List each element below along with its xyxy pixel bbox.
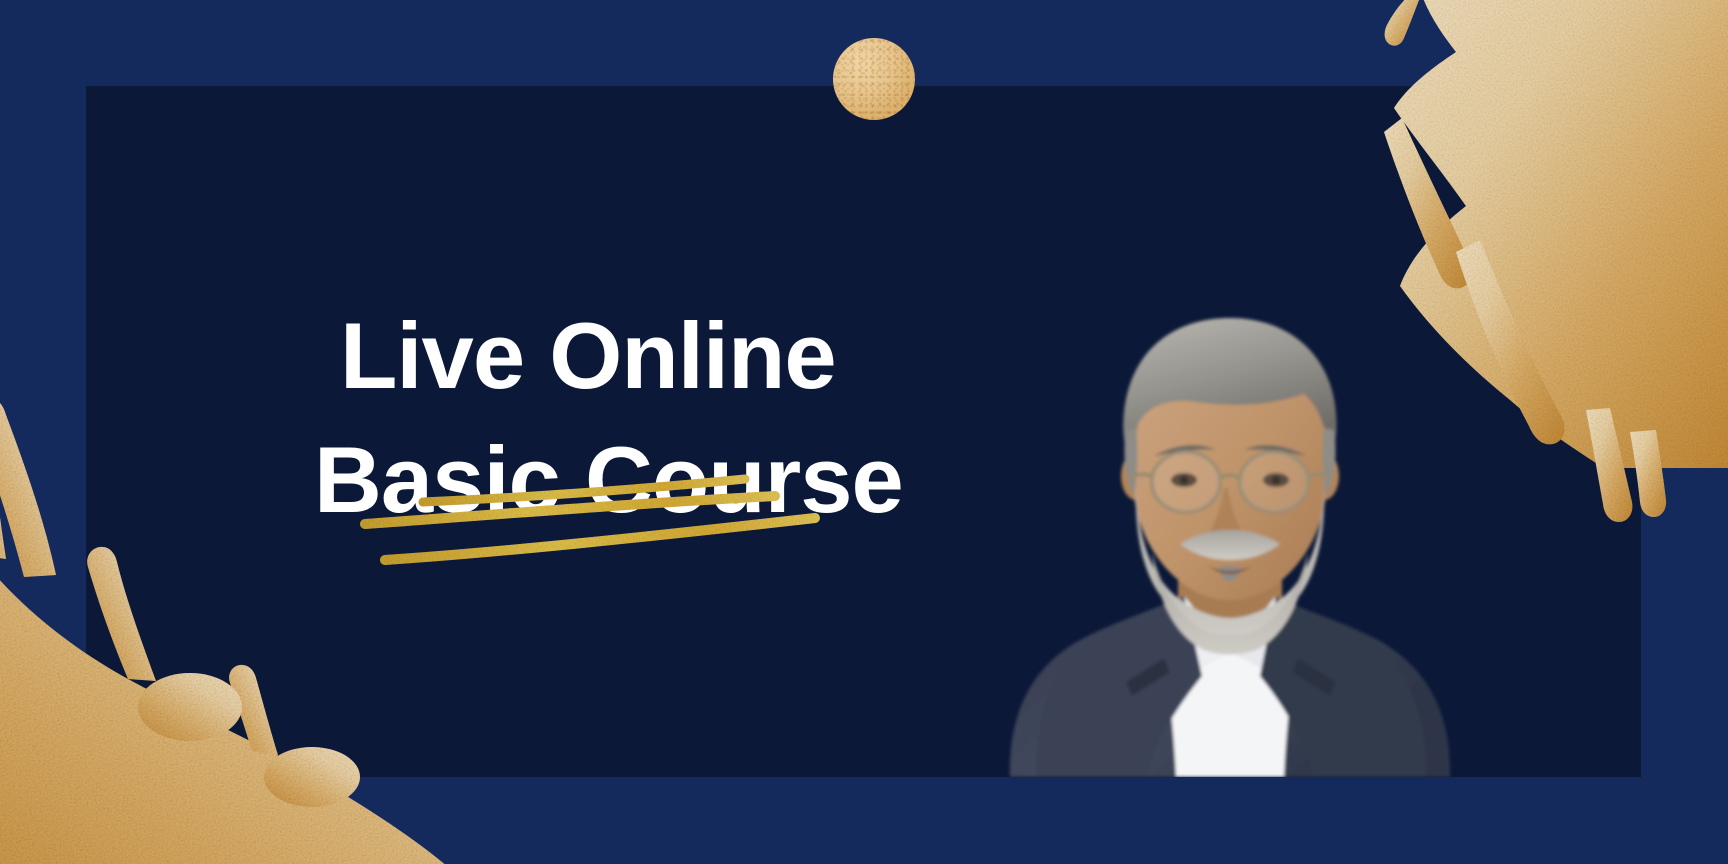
banner-canvas: Live Online Basic Course (0, 0, 1728, 864)
headline-line-1: Live Online (340, 303, 836, 408)
page-title: Live Online Basic Course (340, 170, 1060, 666)
gold-circle-accent-icon (833, 38, 915, 120)
gold-underline-strokes-icon (355, 460, 855, 570)
